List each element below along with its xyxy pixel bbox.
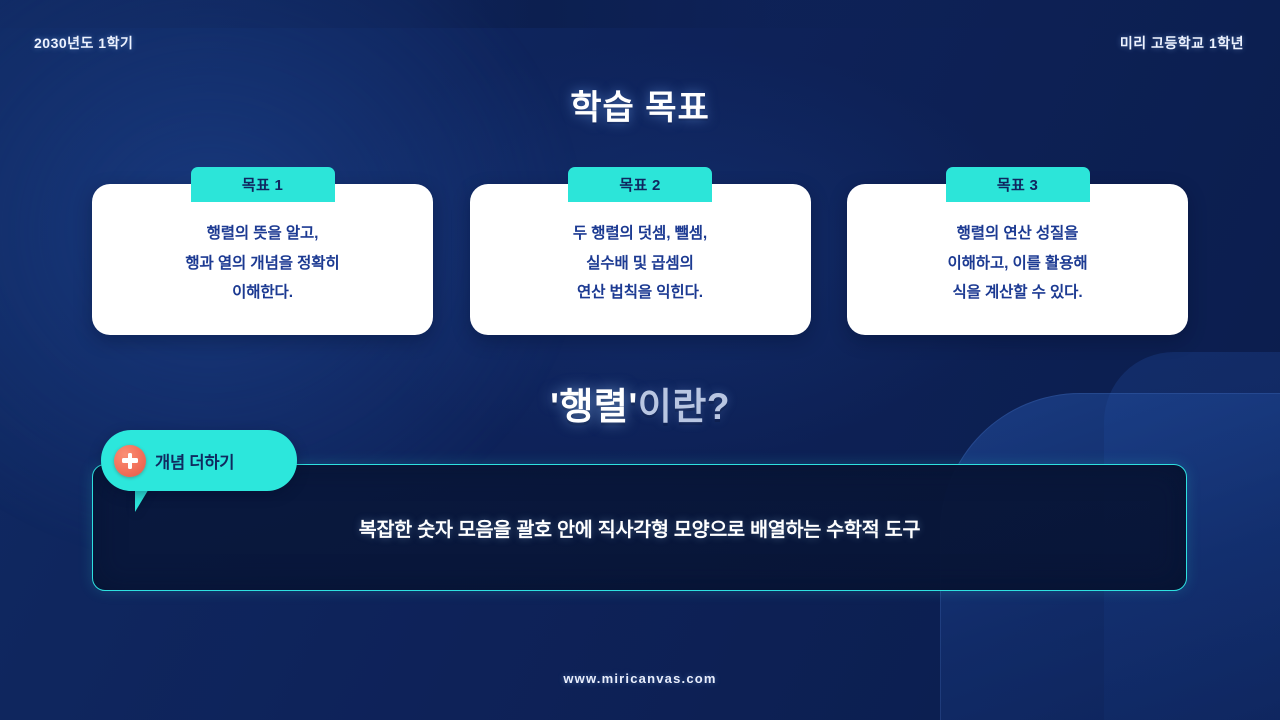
slide-root: 2030년도 1학기 미리 고등학교 1학년 학습 목표 목표 1 행렬의 뜻을… (0, 0, 1280, 720)
plus-circle-icon (114, 445, 146, 477)
concept-bubble: 개념 더하기 (101, 430, 297, 491)
goal-card-2: 목표 2 두 행렬의 덧셈, 뺄셈, 실수배 및 곱셈의 연산 법칙을 익힌다. (470, 184, 811, 335)
goal-badge-3: 목표 3 (946, 167, 1090, 202)
goal-badge-1: 목표 1 (191, 167, 335, 202)
concept-bubble-label: 개념 더하기 (155, 449, 234, 473)
section-heading-dim: 이란? (638, 386, 730, 427)
goal-card-1: 목표 1 행렬의 뜻을 알고, 행과 열의 개념을 정확히 이해한다. (92, 184, 433, 335)
header-term-label: 2030년도 1학기 (34, 33, 133, 53)
slide-header: 2030년도 1학기 미리 고등학교 1학년 (0, 33, 1280, 57)
goal-badge-2: 목표 2 (568, 167, 712, 202)
background-top-strip (0, 0, 1280, 28)
section-heading: '행렬'이란? (0, 388, 1280, 425)
goal-card-list: 목표 1 행렬의 뜻을 알고, 행과 열의 개념을 정확히 이해한다. 목표 2… (92, 167, 1188, 337)
section-heading-strong: '행렬' (550, 386, 638, 427)
goal-body-3: 행렬의 연산 성질을 이해하고, 이를 활용해 식을 계산할 수 있다. (947, 211, 1087, 309)
page-title: 학습 목표 (0, 80, 1280, 129)
concept-definition-text: 복잡한 숫자 모음을 괄호 안에 직사각형 모양으로 배열하는 수학적 도구 (359, 513, 920, 542)
header-school-label: 미리 고등학교 1학년 (1120, 33, 1244, 53)
goal-card-3: 목표 3 행렬의 연산 성질을 이해하고, 이를 활용해 식을 계산할 수 있다… (847, 184, 1188, 335)
goal-body-1: 행렬의 뜻을 알고, 행과 열의 개념을 정확히 이해한다. (185, 211, 339, 309)
footer-url: www.miricanvas.com (0, 671, 1280, 686)
goal-body-2: 두 행렬의 덧셈, 뺄셈, 실수배 및 곱셈의 연산 법칙을 익힌다. (573, 211, 707, 309)
